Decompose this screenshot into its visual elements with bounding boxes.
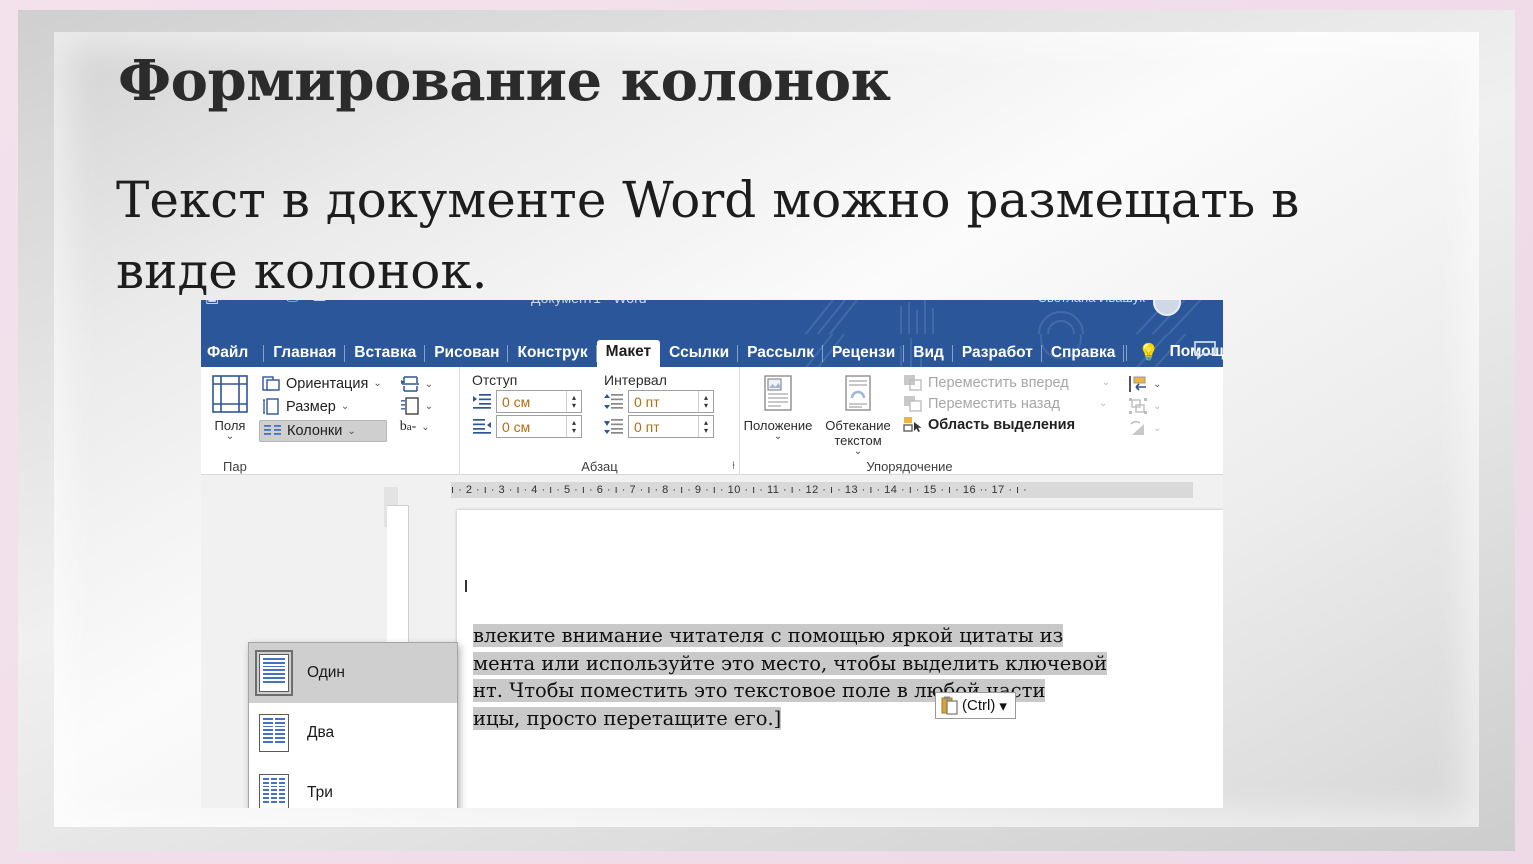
chevron-down-icon[interactable]: ▾ <box>999 697 1007 715</box>
document-title: Документ1 - Word <box>531 300 647 306</box>
chevron-down-icon[interactable]: ⌄ <box>1153 401 1161 412</box>
selection-pane-icon <box>903 416 923 433</box>
rotate-icon <box>1128 419 1148 437</box>
page-size-icon <box>262 397 281 416</box>
group-button[interactable]: ⌄ <box>1125 395 1166 417</box>
comment-icon[interactable] <box>1193 340 1217 360</box>
doc-line: мента или используйте это место, чтобы в… <box>473 650 1213 678</box>
send-backward-icon <box>903 395 923 412</box>
menu-item-label: Два <box>307 724 334 742</box>
indent-right-stepper[interactable]: 0 см ▴▾ <box>496 415 582 438</box>
position-icon <box>740 374 816 417</box>
doc-line-text: ицы, просто перетащите его.] <box>473 707 781 730</box>
wrap-text-icon <box>816 374 900 417</box>
spinner-arrows[interactable]: ▴▾ <box>566 416 581 437</box>
bring-forward-label: Переместить вперед <box>928 375 1069 391</box>
orientation-icon <box>262 374 281 393</box>
horizontal-ruler[interactable]: ı · 2 · ı · 3 · ı · 4 · ı · 5 · ı · 6 · … <box>201 475 1223 505</box>
chevron-down-icon[interactable]: ⌄ <box>1099 398 1107 409</box>
chevron-down-icon[interactable]: ⌄ <box>816 448 900 456</box>
line-numbers-icon <box>400 397 420 415</box>
wrap-text-label: Обтекание текстом <box>825 418 890 448</box>
doc-line-text: мента или используйте это место, чтобы в… <box>473 652 1107 675</box>
document-text-block[interactable]: влеките внимание читателя с помощью ярко… <box>473 622 1213 733</box>
tab-help[interactable]: Справка <box>1042 341 1125 368</box>
orientation-label: Ориентация <box>286 376 368 392</box>
position-button[interactable]: Положение ⌄ <box>740 370 816 456</box>
indent-left-value[interactable]: 0 см <box>497 394 566 410</box>
breaks-button[interactable]: ⌄ <box>397 373 438 395</box>
group-label-arrange: Упорядочение <box>740 459 1209 474</box>
tab-layout[interactable]: Макет <box>597 340 661 368</box>
menu-item-three-columns[interactable]: Три <box>249 763 457 808</box>
text-cursor <box>465 580 467 592</box>
menu-item-one-column[interactable]: Один <box>249 643 457 703</box>
indent-left-icon <box>472 393 492 410</box>
chevron-down-icon[interactable]: ⌄ <box>1102 377 1110 388</box>
spacing-before-stepper[interactable]: 0 пт ▴▾ <box>628 390 714 413</box>
slide: Формирование колонок Текст в документе W… <box>18 10 1515 851</box>
quick-access-toolbar[interactable]: ▣ ↶ ↷ ⎙ ▭ <box>205 300 327 306</box>
columns-icon <box>263 423 282 439</box>
slide-body-text: Текст в документе Word можно размещать в… <box>116 165 1436 307</box>
margins-icon <box>201 374 259 417</box>
spacing-before-value[interactable]: 0 пт <box>629 394 698 410</box>
spacing-after-value[interactable]: 0 пт <box>629 419 698 435</box>
three-columns-icon <box>259 774 289 808</box>
wrap-text-button[interactable]: Обтекание текстом ⌄ <box>816 370 900 456</box>
chevron-down-icon[interactable]: ⌄ <box>740 433 816 441</box>
tab-insert[interactable]: Вставка <box>345 341 425 368</box>
page-size-button[interactable]: Размер ⌄ <box>259 395 387 418</box>
chevron-down-icon[interactable]: ⌄ <box>201 433 259 441</box>
ruler-ticks: ı · 2 · ı · 3 · ı · 4 · ı · 5 · ı · 6 · … <box>451 482 1193 498</box>
spinner-arrows[interactable]: ▴▾ <box>698 416 713 437</box>
ruler-tick-labels-tail: · 17 · ı · <box>984 484 1028 496</box>
ribbon-group-paragraph: Отступ 0 см <box>459 367 739 475</box>
ribbon-group-arrange: Положение ⌄ Обтекание тек <box>739 367 1209 475</box>
chevron-down-icon[interactable]: ⌄ <box>421 422 429 433</box>
menu-item-two-columns[interactable]: Два <box>249 703 457 763</box>
paragraph-dialog-launcher[interactable]: ⍿ <box>732 460 735 473</box>
indent-left-stepper[interactable]: 0 см ▴▾ <box>496 390 582 413</box>
undo-icon[interactable]: ↶ <box>233 300 246 306</box>
redo-icon[interactable]: ↷ <box>260 300 273 306</box>
tab-review[interactable]: Рецензи <box>823 341 904 368</box>
ribbon-tab-strip: Файл Главная Вставка Рисован Конструк Ма… <box>201 334 1223 367</box>
menu-item-label: Один <box>307 664 345 682</box>
tab-design[interactable]: Конструк <box>508 341 596 368</box>
page-title: Формирование колонок <box>118 48 1378 114</box>
tab-mailings[interactable]: Рассылк <box>738 341 823 368</box>
indent-label: Отступ <box>472 372 582 388</box>
chevron-down-icon[interactable]: ⌄ <box>425 401 433 412</box>
chevron-down-icon[interactable]: ⌄ <box>373 378 381 389</box>
save-icon[interactable]: ▣ <box>205 300 219 306</box>
spacing-label: Интервал <box>604 372 714 388</box>
breaks-icon <box>400 375 420 393</box>
spacing-after-icon <box>604 418 624 435</box>
word-window: ▣ ↶ ↷ ⎙ ▭ Документ1 - Word Светлана Иваш… <box>201 300 1223 808</box>
send-backward-button[interactable]: Переместить назад ⌄ <box>900 393 1115 414</box>
group-icon <box>1128 397 1148 415</box>
tab-view[interactable]: Вид <box>904 341 953 368</box>
chevron-down-icon[interactable]: ⌄ <box>1153 423 1161 434</box>
tab-developer[interactable]: Разработ <box>953 341 1042 368</box>
indent-right-icon <box>472 418 492 435</box>
chevron-down-icon[interactable]: ⌄ <box>425 379 433 390</box>
tab-file[interactable]: Файл <box>201 341 264 368</box>
ribbon: Поля ⌄ Ориентац <box>201 367 1223 475</box>
indent-right-value[interactable]: 0 см <box>497 419 566 435</box>
page-size-label: Размер <box>286 399 336 415</box>
document-area: ı · 2 · ı · 3 · ı · 4 · ı · 5 · ı · 6 · … <box>201 475 1223 808</box>
paste-options-label: (Ctrl) <box>962 697 995 714</box>
one-column-icon <box>259 654 289 692</box>
lightbulb-icon: 💡 <box>1138 344 1159 361</box>
indent-right-row: 0 см ▴▾ <box>472 415 582 438</box>
spinner-arrows[interactable]: ▴▾ <box>698 391 713 412</box>
ruler-tick-labels: ı · 2 · ı · 3 · ı · 4 · ı · 5 · ı · 6 · … <box>451 484 984 496</box>
columns-dropdown-menu[interactable]: Один Два <box>248 642 458 808</box>
paste-options-button[interactable]: (Ctrl) ▾ <box>935 692 1016 719</box>
menu-item-label: Три <box>307 784 333 802</box>
group-label-page-setup: Пар <box>201 459 459 474</box>
columns-label: Колонки <box>287 423 342 439</box>
ribbon-group-page-setup: Поля ⌄ Ориентац <box>201 367 459 475</box>
spacing-after-row: 0 пт ▴▾ <box>604 415 714 438</box>
document-page[interactable]: влеките внимание читателя с помощью ярко… <box>457 510 1223 808</box>
two-columns-icon <box>259 714 289 752</box>
doc-line: нт. Чтобы поместить это текстовое поле в… <box>473 677 1213 705</box>
touch-mode-icon[interactable]: ▭ <box>312 300 326 306</box>
group-label-paragraph: Абзац <box>460 459 739 474</box>
paste-options-icon <box>941 696 958 715</box>
print-preview-icon[interactable]: ⎙ <box>286 300 298 306</box>
hyphenation-icon: ba- <box>400 419 417 435</box>
tab-references[interactable]: Ссылки <box>660 341 738 368</box>
align-icon <box>1128 375 1148 393</box>
rotate-button[interactable]: ⌄ <box>1125 417 1166 439</box>
doc-line: ицы, просто перетащите его.] <box>473 705 1213 733</box>
send-backward-label: Переместить назад <box>928 396 1060 412</box>
chevron-down-icon[interactable]: ⌄ <box>341 401 349 412</box>
window-title-bar: ▣ ↶ ↷ ⎙ ▭ Документ1 - Word Светлана Иваш… <box>201 300 1223 334</box>
margins-button[interactable]: Поля ⌄ <box>201 370 259 442</box>
indent-left-row: 0 см ▴▾ <box>472 390 582 413</box>
selection-pane-button[interactable]: Область выделения <box>900 414 1115 435</box>
slide-outer-frame: Формирование колонок Текст в документе W… <box>0 0 1533 864</box>
spacing-before-icon <box>604 393 624 410</box>
hyphenation-button[interactable]: ba- ⌄ <box>397 417 438 437</box>
spinner-arrows[interactable]: ▴▾ <box>566 391 581 412</box>
orientation-button[interactable]: Ориентация ⌄ <box>259 372 387 395</box>
chevron-down-icon[interactable]: ⌄ <box>347 426 355 437</box>
doc-line: влеките внимание читателя с помощью ярко… <box>473 622 1213 650</box>
align-button[interactable]: ⌄ <box>1125 373 1166 395</box>
titlebar-decoration <box>201 300 1223 334</box>
line-numbers-button[interactable]: ⌄ <box>397 395 438 417</box>
spacing-after-stepper[interactable]: 0 пт ▴▾ <box>628 415 714 438</box>
spacing-before-row: 0 пт ▴▾ <box>604 390 714 413</box>
tab-home[interactable]: Главная <box>264 341 345 368</box>
chevron-down-icon[interactable]: ⌄ <box>1153 379 1161 390</box>
tab-draw[interactable]: Рисован <box>425 341 508 368</box>
selection-pane-label: Область выделения <box>928 417 1075 433</box>
user-account-name: Светлана Ивашук <box>1038 300 1145 305</box>
bring-forward-button[interactable]: Переместить вперед ⌄ <box>900 372 1115 393</box>
bring-forward-icon <box>903 374 923 391</box>
doc-line-text: влеките внимание читателя с помощью ярко… <box>473 624 1063 647</box>
columns-button[interactable]: Колонки ⌄ <box>259 420 387 442</box>
